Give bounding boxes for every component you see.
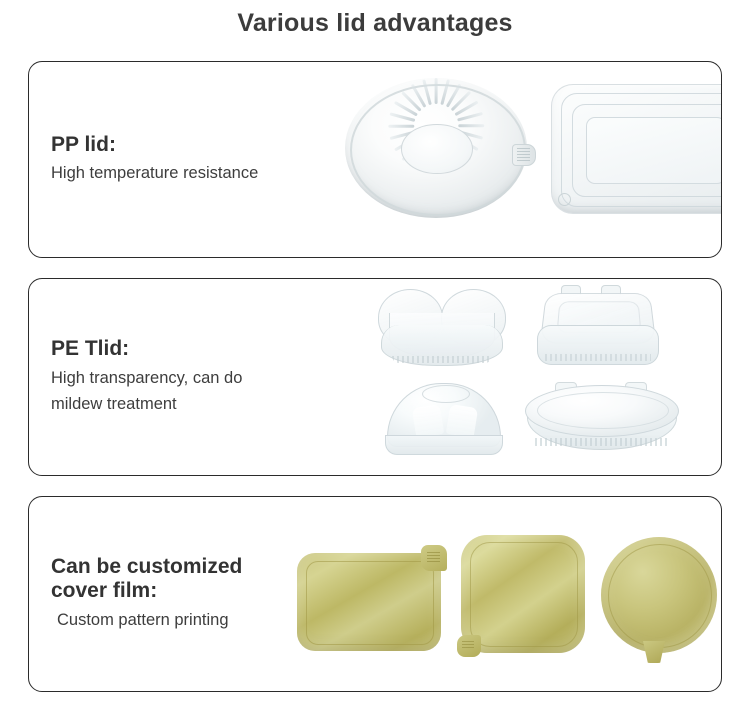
round-ribbed-pp-lid-image bbox=[345, 78, 527, 218]
panel-pe-t-lid: PE Tlid: High transparency, can do milde… bbox=[28, 278, 722, 476]
custom-cover-film-product-images bbox=[329, 497, 721, 691]
gold-foil-round-lid-image bbox=[601, 537, 722, 661]
pp-round-pull-tab bbox=[512, 144, 536, 166]
gold-foil-square-lid-image bbox=[457, 535, 589, 661]
pe-t-lid-product-images bbox=[329, 279, 721, 475]
pe-t-lid-text-block: PE Tlid: High transparency, can do milde… bbox=[51, 337, 351, 417]
pp-lid-description: High temperature resistance bbox=[51, 161, 351, 187]
gold-rect-pull-tab bbox=[421, 545, 447, 571]
gold-foil-rectangular-lid-image bbox=[297, 545, 447, 651]
gold-round-pull-tab bbox=[643, 641, 665, 663]
pp-rect-rib-inner bbox=[586, 117, 722, 184]
pe-t-lid-description-line1: High transparency, can do bbox=[51, 366, 351, 392]
pp-round-center-hub bbox=[401, 124, 472, 174]
pe-t-lid-description-line2: mildew treatment bbox=[51, 391, 351, 417]
dome-pet-lid-image bbox=[385, 383, 501, 455]
pet-square-base bbox=[537, 325, 659, 365]
pet-dome-base-ring bbox=[385, 435, 503, 455]
pet-dome-top-ring bbox=[422, 385, 470, 403]
rectangular-pp-lid-image bbox=[551, 84, 722, 214]
page-title: Various lid advantages bbox=[0, 9, 750, 38]
pet-dome-highlight-left bbox=[412, 404, 444, 438]
pp-lid-product-images bbox=[329, 62, 721, 257]
panel-pp-lid: PP lid: High temperature resistance bbox=[28, 61, 722, 258]
square-pet-lid-image bbox=[537, 289, 657, 367]
pp-lid-heading: PP lid: bbox=[51, 132, 351, 156]
pp-rect-corner-notch bbox=[558, 193, 571, 206]
pet-oval-inner-ring bbox=[537, 392, 670, 429]
gold-round-body bbox=[601, 537, 717, 653]
heart-shaped-pet-lid-image bbox=[377, 287, 505, 369]
pet-dome-highlight-right bbox=[446, 404, 478, 438]
panel-custom-cover-film: Can be customized cover film: Custom pat… bbox=[28, 496, 722, 692]
oval-flat-pet-lid-image bbox=[525, 385, 677, 453]
pe-t-lid-heading: PE Tlid: bbox=[51, 337, 351, 361]
pp-lid-text-block: PP lid: High temperature resistance bbox=[51, 132, 351, 187]
gold-square-pull-tab bbox=[457, 635, 481, 657]
pet-heart-skirt bbox=[381, 325, 503, 366]
pet-oval-top bbox=[525, 385, 679, 437]
gold-rect-body bbox=[297, 553, 441, 651]
